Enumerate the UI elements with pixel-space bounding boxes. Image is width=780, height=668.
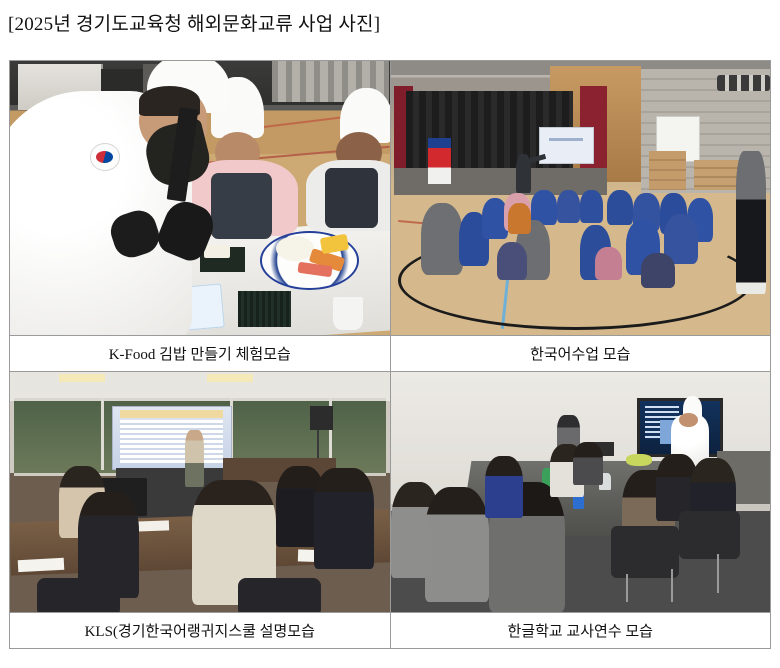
ceiling-light-2 — [207, 374, 253, 381]
child-1-apron — [211, 173, 272, 239]
backpack — [508, 203, 531, 233]
slide-table-rows — [120, 420, 222, 463]
korean-flag-patch — [90, 143, 120, 170]
seated-child — [421, 203, 463, 274]
attendee-seated — [425, 487, 490, 602]
paper-cup — [333, 297, 363, 330]
attendee-seated — [485, 456, 523, 518]
photo-cell-3 — [10, 372, 391, 613]
seated-child — [557, 190, 580, 223]
seaweed-sheet-2 — [238, 291, 291, 327]
attendee-seated — [314, 468, 375, 569]
photo-korean-language-class — [391, 61, 771, 335]
backpack — [641, 253, 675, 289]
caption-photo-1: K-Food 김밥 만들기 체험모습 — [10, 336, 391, 372]
attendee-seated — [573, 442, 603, 485]
table-row-photos-top — [10, 61, 771, 336]
projection-screen — [539, 127, 594, 165]
chef-face — [679, 413, 698, 427]
slide-title-bar — [120, 410, 222, 417]
photo-kls-briefing — [10, 372, 390, 612]
photo-cell-1 — [10, 61, 391, 336]
cardboard-boxes-1 — [649, 151, 687, 189]
rice-portion — [276, 236, 314, 261]
caption-photo-4: 한글학교 교사연수 모습 — [390, 613, 771, 649]
photo-table: K-Food 김밥 만들기 체험모습 한국어수업 모습 — [9, 60, 771, 649]
table-row-photos-bottom — [10, 372, 771, 613]
conference-chair — [238, 578, 321, 612]
seated-child — [607, 190, 634, 226]
ceiling-vents — [717, 75, 770, 91]
document-page-2 — [135, 520, 169, 531]
standing-adult — [736, 151, 766, 293]
kids-camp-banner — [428, 138, 451, 185]
photo-teacher-training — [391, 372, 771, 612]
office-chair — [611, 526, 679, 579]
table-row-captions-top: K-Food 김밥 만들기 체험모습 한국어수업 모습 — [10, 336, 771, 372]
child-2-apron — [325, 168, 378, 228]
page-title: [2025년 경기도교육청 해외문화교류 사업 사진] — [8, 9, 380, 36]
chair-leg — [717, 554, 719, 592]
seated-child — [580, 190, 603, 223]
ceiling-light-1 — [59, 374, 105, 381]
photo-cell-2 — [390, 61, 771, 336]
rice-on-seaweed — [204, 245, 231, 259]
photo-kfood-kimbap — [10, 61, 390, 335]
chair-leg — [626, 574, 628, 603]
backpack — [595, 247, 622, 280]
caption-photo-3: KLS(경기한국어랭귀지스쿨 설명모습 — [10, 613, 391, 649]
loudspeaker — [310, 406, 333, 430]
backpack — [497, 242, 527, 280]
caption-photo-2: 한국어수업 모습 — [390, 336, 771, 372]
chair-leg — [671, 569, 673, 603]
conference-chair — [37, 578, 120, 612]
office-chair — [679, 511, 740, 559]
window-mullion-1 — [101, 398, 104, 470]
photo-cell-4 — [390, 372, 771, 613]
presenter-figure — [185, 430, 204, 488]
snack-tray — [626, 454, 653, 466]
table-row-captions-bottom: KLS(경기한국어랭귀지스쿨 설명모습 한글학교 교사연수 모습 — [10, 613, 771, 649]
